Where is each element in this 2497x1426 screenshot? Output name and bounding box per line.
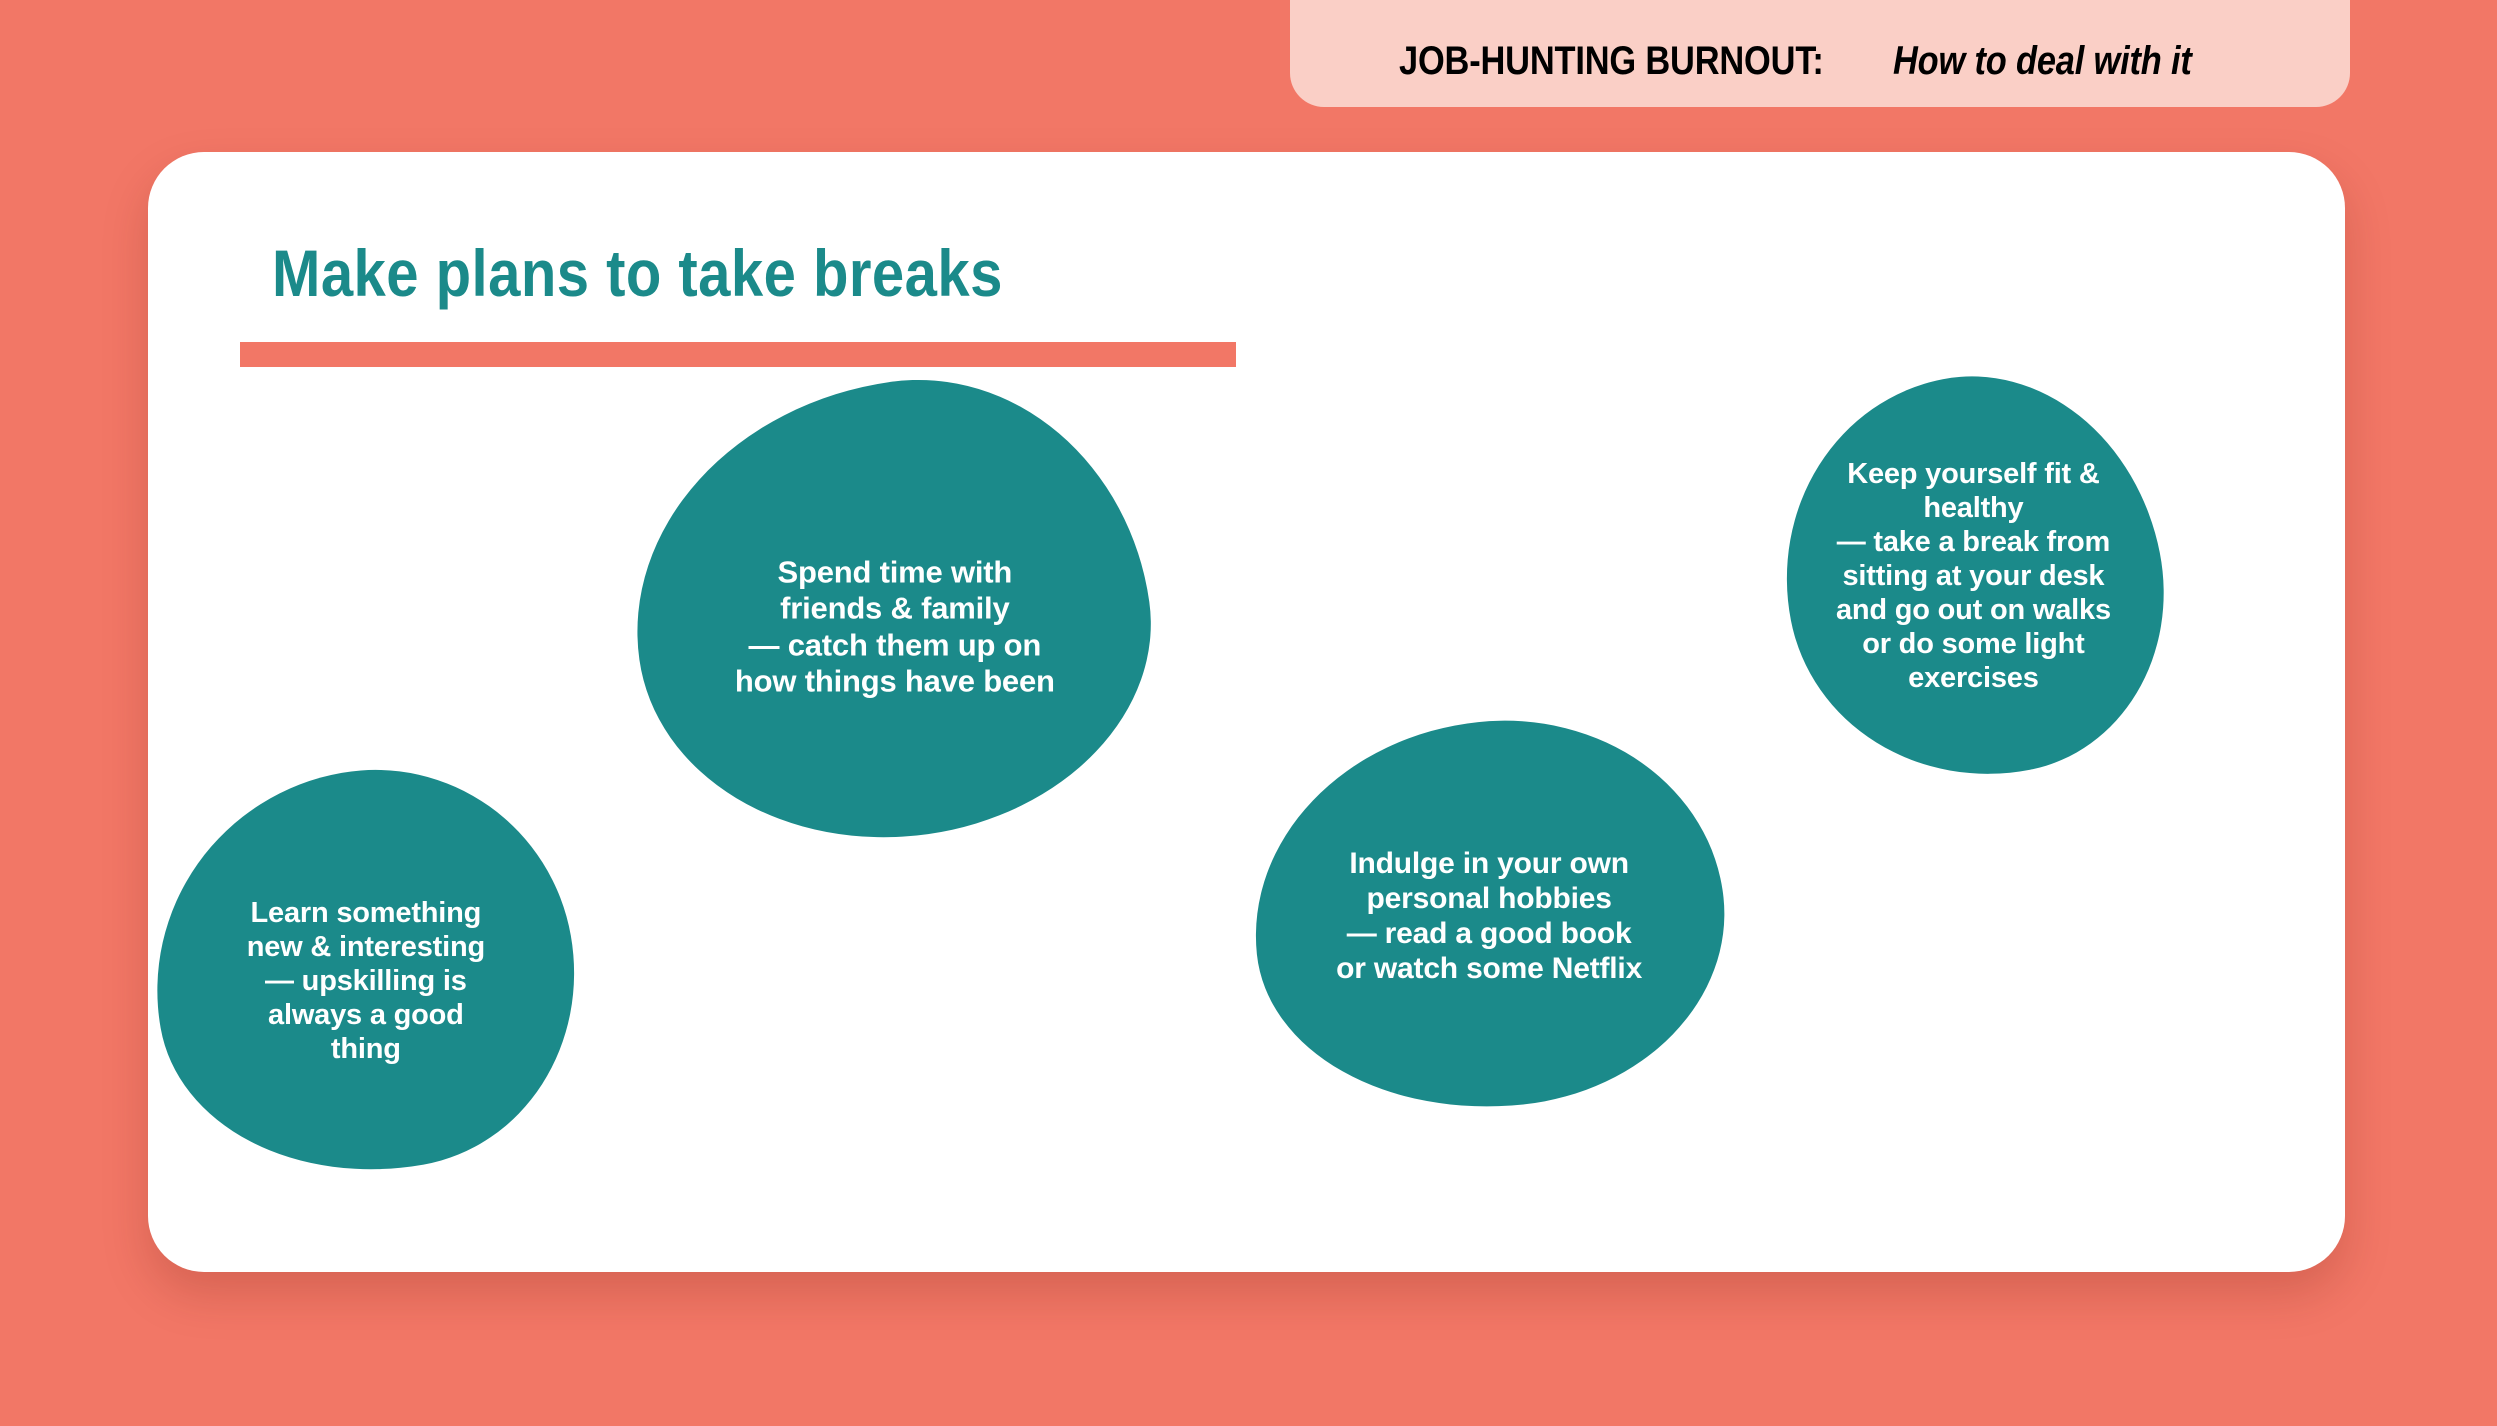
blob-keep-fit: Keep yourself fit & healthy — take a bre… — [1751, 345, 2195, 809]
blob-learn-new-label: Learn something new & interesting — upsk… — [237, 897, 495, 1067]
blob-spend-time: Spend time with friends & family — catch… — [606, 351, 1177, 871]
page-title: Make plans to take breaks — [272, 240, 1003, 306]
slide-canvas: JOB-HUNTING BURNOUT: How to deal with it… — [0, 0, 2497, 1426]
blob-hobbies-label: Indulge in your own personal hobbies — r… — [1326, 846, 1652, 986]
blob-hobbies: Indulge in your own personal hobbies — r… — [1235, 698, 1743, 1130]
header-banner: JOB-HUNTING BURNOUT: How to deal with it — [1290, 0, 2350, 107]
header-title: JOB-HUNTING BURNOUT: How to deal with it — [1399, 41, 2240, 81]
title-underline-bar — [240, 342, 1236, 367]
blob-learn-new: Learn something new & interesting — upsk… — [148, 739, 606, 1206]
blob-spend-time-label: Spend time with friends & family — catch… — [721, 555, 1069, 708]
blob-keep-fit-label: Keep yourself fit & healthy — take a bre… — [1832, 458, 2115, 695]
header-title-strong: JOB-HUNTING BURNOUT: — [1399, 41, 1824, 81]
header-title-emphasis: How to deal with it — [1893, 41, 2192, 81]
content-card: Make plans to take breaks Spend time wit… — [148, 152, 2345, 1272]
